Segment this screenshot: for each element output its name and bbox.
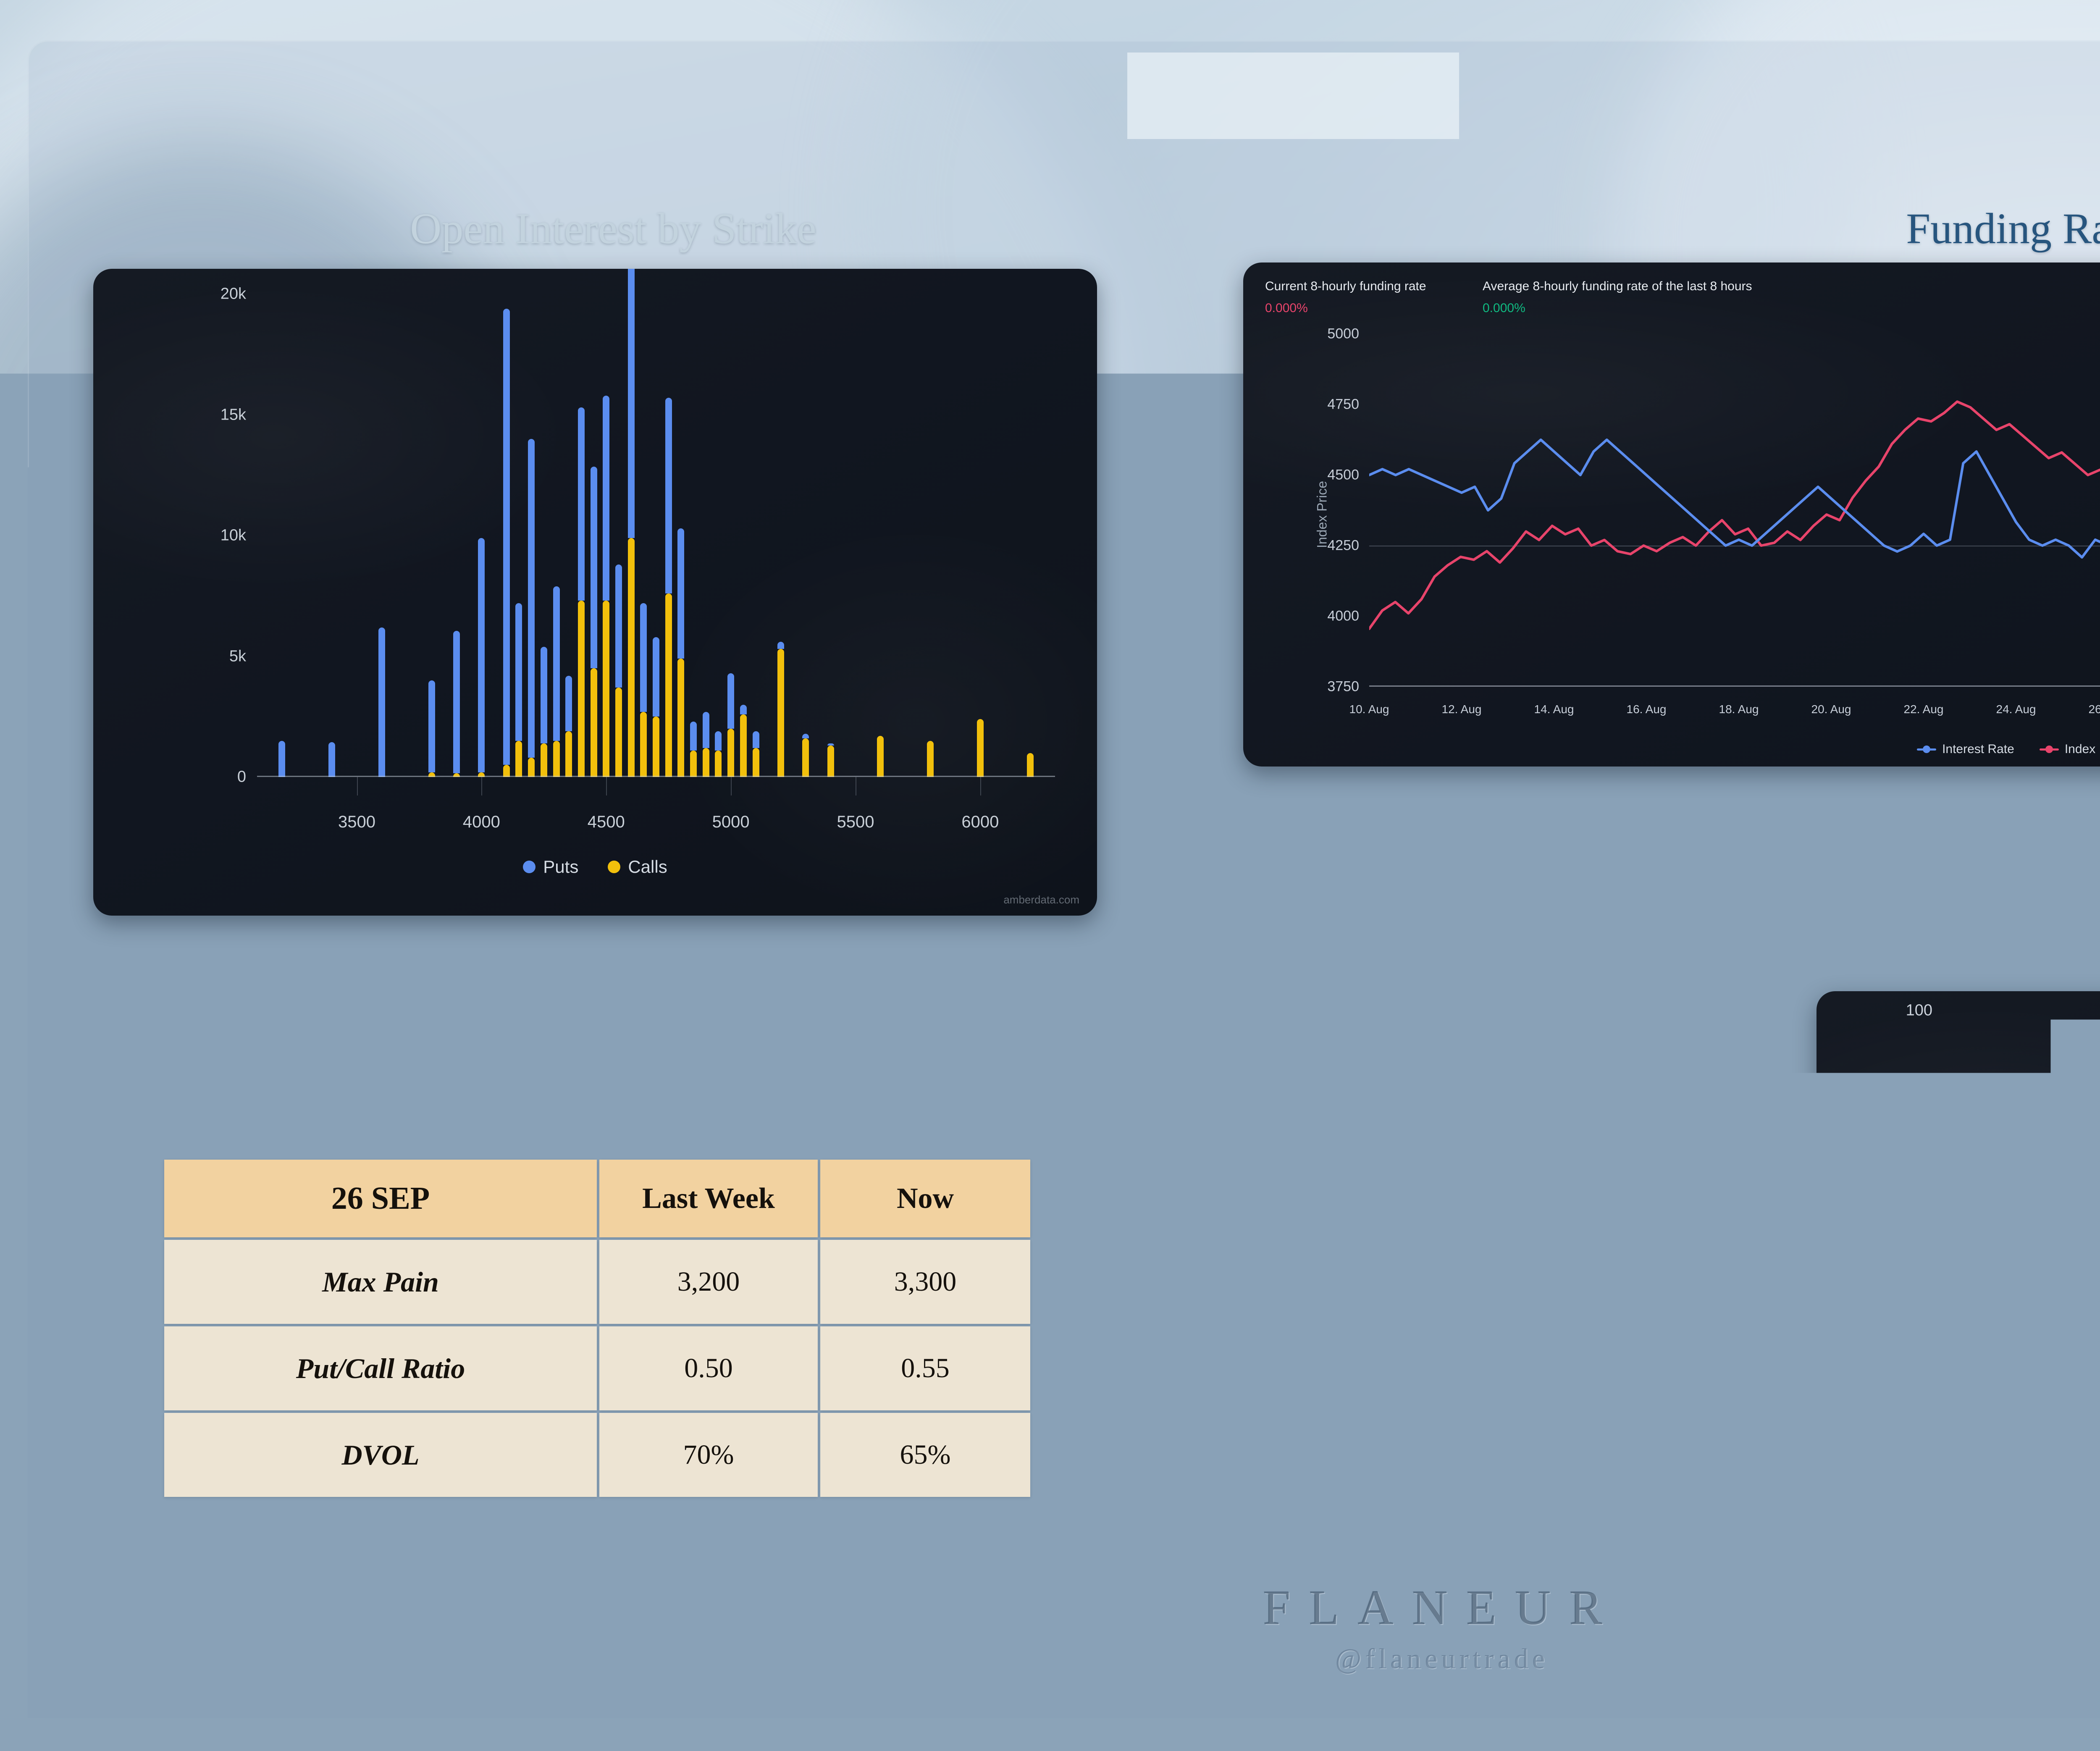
- table-header-row: 26 SEPLast WeekNow: [164, 1160, 1030, 1237]
- open-interest-tick-mark: [731, 777, 732, 795]
- calls-segment: [628, 538, 635, 777]
- legend-swatch-icon: [523, 861, 535, 873]
- open-interest-plot-area: 05k10k15k20k: [257, 294, 1055, 777]
- series-index-price: [1369, 402, 2100, 629]
- calls-segment: [503, 765, 510, 777]
- funding-rate-heading: Funding Rate: [1701, 204, 2100, 254]
- puts-segment: [653, 637, 659, 717]
- calls-segment: [690, 751, 697, 777]
- open-interest-tick-mark: [481, 777, 482, 795]
- puts-segment: [453, 631, 460, 773]
- open-interest-x-tick: 6000: [961, 813, 999, 832]
- legend-item[interactable]: Puts: [523, 857, 578, 877]
- open-interest-bar: [278, 741, 285, 777]
- funding-rate-chart-card: Current 8-hourly funding rate 0.000% Ave…: [1243, 263, 2100, 767]
- table-row: Max Pain3,2003,300: [164, 1240, 1030, 1324]
- legend-swatch-icon: [608, 861, 620, 873]
- puts-segment: [515, 603, 522, 741]
- atm-y-tick: 100: [1906, 1002, 1932, 1020]
- calls-segment: [565, 731, 572, 777]
- calls-segment: [615, 688, 622, 777]
- calls-segment: [727, 729, 734, 777]
- open-interest-tick-mark: [856, 777, 856, 795]
- table-header-cell: 26 SEP: [164, 1160, 597, 1237]
- table-cell-last-week: 0.50: [599, 1326, 818, 1410]
- table-row-label: Max Pain: [164, 1240, 597, 1324]
- open-interest-y-tick: 20k: [220, 285, 246, 303]
- calls-segment: [740, 714, 747, 777]
- calls-segment: [578, 601, 585, 777]
- atm-y-tick: 50: [1915, 1144, 1932, 1162]
- open-interest-y-tick: 0: [237, 768, 246, 786]
- series-parkinson-rv: [2000, 1045, 2100, 1124]
- atm-y-tick: -25: [1909, 1357, 1932, 1375]
- open-interest-bar: [591, 467, 597, 777]
- atm-heading-line1: At The Money (ATM) vs: [1928, 926, 2100, 973]
- open-interest-bar: [1027, 753, 1034, 777]
- open-interest-x-tick: 5000: [712, 813, 750, 832]
- open-interest-x-tick: 4000: [463, 813, 500, 832]
- open-interest-bar: [753, 731, 759, 777]
- open-interest-bar: [578, 407, 585, 777]
- calls-segment: [677, 659, 684, 777]
- atm-y-tick: 0: [1924, 1286, 1932, 1304]
- puts-segment: [690, 722, 697, 751]
- open-interest-bar: [777, 642, 784, 777]
- calls-segment: [541, 743, 547, 777]
- open-interest-bar: [515, 603, 522, 777]
- calls-segment: [553, 741, 560, 777]
- puts-segment: [553, 586, 560, 741]
- amberdata-watermark: amberdata.com: [1003, 893, 1079, 906]
- funding-rate-plot-area: 375040004250450047505000-0.024-0.01200.0…: [1369, 334, 2100, 687]
- open-interest-bar: [703, 712, 709, 777]
- legend-swatch-icon: [2040, 748, 2059, 751]
- open-interest-bar: [653, 637, 659, 777]
- open-interest-bar: [553, 586, 560, 777]
- open-interest-chart-card: 05k10k15k20k PutsCalls amberdata.com 350…: [93, 269, 1097, 916]
- brand-handle: @flaneurtrade: [0, 1642, 2100, 1675]
- table-row-label: DVOL: [164, 1413, 597, 1497]
- puts-segment: [777, 642, 784, 649]
- open-interest-tick-mark: [980, 777, 981, 795]
- puts-segment: [428, 680, 435, 772]
- open-interest-bar: [690, 722, 697, 777]
- table-cell-now: 0.55: [820, 1326, 1030, 1410]
- puts-segment: [578, 407, 585, 601]
- average-funding-rate-label: Average 8-hourly funding rate of the las…: [1483, 279, 1752, 294]
- calls-segment: [591, 668, 597, 777]
- calls-segment: [653, 717, 659, 777]
- open-interest-bar: [453, 631, 460, 777]
- summary-table: 26 SEPLast WeekNowMax Pain3,2003,300Put/…: [162, 1157, 1033, 1499]
- puts-segment: [615, 564, 622, 688]
- open-interest-bar: [640, 603, 647, 777]
- puts-segment: [703, 712, 709, 748]
- atm-legend: VRPATMParkinson RV: [1816, 1522, 2100, 1541]
- page-title: Sep Week 2 Data: [1128, 69, 1459, 121]
- calls-segment: [802, 738, 809, 777]
- table-row: Put/Call Ratio0.500.55: [164, 1326, 1030, 1410]
- open-interest-bar: [328, 742, 335, 777]
- puts-segment: [591, 467, 597, 668]
- legend-item[interactable]: Index Price: [2040, 742, 2100, 756]
- brand-footer: FLANEUR @flaneurtrade: [0, 1579, 2100, 1675]
- funding-y-tick: 4500: [1327, 467, 1359, 483]
- open-interest-bar: [802, 734, 809, 777]
- puts-segment: [665, 398, 672, 593]
- funding-x-tick: 22. Aug: [1904, 703, 1944, 716]
- open-interest-bar: [877, 736, 884, 777]
- open-interest-bar: [478, 538, 485, 777]
- open-interest-bar: [927, 741, 934, 777]
- average-funding-rate-value: 0.000%: [1483, 301, 1525, 315]
- open-interest-bar: [665, 398, 672, 777]
- open-interest-legend: PutsCalls: [93, 857, 1097, 877]
- puts-segment: [541, 647, 547, 743]
- calls-segment: [927, 741, 934, 777]
- funding-y-tick: 3750: [1327, 679, 1359, 695]
- calls-segment: [753, 748, 759, 777]
- legend-swatch-icon: [1917, 748, 1936, 751]
- legend-item[interactable]: Interest Rate: [1917, 742, 2014, 756]
- open-interest-bar: [378, 627, 385, 777]
- series-interest-rate: [1369, 440, 2100, 651]
- legend-label: Interest Rate: [1942, 742, 2014, 756]
- funding-rate-legend: Interest RateIndex Price: [1243, 742, 2100, 756]
- calls-segment: [977, 719, 984, 777]
- brand-name: FLANEUR: [0, 1579, 2100, 1636]
- funding-x-tick: 24. Aug: [1996, 703, 2036, 716]
- calls-segment: [515, 741, 522, 777]
- funding-rate-lines: [1369, 334, 2100, 687]
- legend-label: Index Price: [2065, 742, 2100, 756]
- atm-plot-area: -50-250255075100: [1942, 1011, 2100, 1436]
- open-interest-y-tick: 5k: [229, 647, 246, 665]
- open-interest-bar: [677, 528, 684, 777]
- puts-segment: [802, 734, 809, 739]
- calls-segment: [715, 751, 722, 777]
- atm-vs-rv-chart-card: -50-250255075100 VRPATMParkinson RV ambe…: [1816, 991, 2100, 1579]
- calls-segment: [603, 601, 609, 777]
- puts-segment: [378, 627, 385, 777]
- calls-segment: [665, 593, 672, 777]
- atm-y-tick: -50: [1909, 1428, 1932, 1446]
- calls-segment: [640, 712, 647, 777]
- open-interest-bar: [528, 439, 535, 777]
- legend-label: Calls: [628, 857, 667, 877]
- funding-y-tick: 4250: [1327, 538, 1359, 554]
- funding-y-axis-title: Index Price: [1315, 481, 1330, 548]
- page-title-pill: Sep Week 2 Data: [1140, 63, 1446, 127]
- puts-segment: [753, 731, 759, 748]
- atm-x-tick: 11 Aug: [2000, 1471, 2049, 1489]
- calls-segment: [827, 746, 834, 777]
- puts-segment: [603, 396, 609, 601]
- funding-x-tick: 16. Aug: [1627, 703, 1667, 716]
- table-header-cell: Last Week: [599, 1160, 818, 1237]
- puts-segment: [677, 528, 684, 659]
- funding-rate-x-axis: [1369, 685, 2100, 687]
- funding-x-tick: 26. Aug: [2089, 703, 2100, 716]
- calls-segment: [528, 758, 535, 777]
- series-vrp-area: [2000, 1255, 2100, 1382]
- table-cell-now: 65%: [820, 1413, 1030, 1497]
- open-interest-bar: [715, 731, 722, 777]
- open-interest-x-tick: 3500: [338, 813, 375, 832]
- atm-y-tick: 75: [1915, 1073, 1932, 1091]
- table-cell-last-week: 70%: [599, 1413, 818, 1497]
- legend-label: Puts: [543, 857, 578, 877]
- puts-segment: [478, 538, 485, 772]
- funding-y-tick: 5000: [1327, 326, 1359, 342]
- table-cell-now: 3,300: [820, 1240, 1030, 1324]
- puts-segment: [715, 731, 722, 751]
- open-interest-x-tick: 5500: [837, 813, 874, 832]
- open-interest-bar: [977, 719, 984, 777]
- table-cell-last-week: 3,200: [599, 1240, 818, 1324]
- open-interest-bar: [740, 705, 747, 777]
- funding-x-tick: 12. Aug: [1442, 703, 1482, 716]
- atm-series-graphics: [1942, 1011, 2100, 1436]
- puts-segment: [328, 742, 335, 777]
- puts-segment: [640, 603, 647, 712]
- funding-x-tick: 14. Aug: [1534, 703, 1574, 716]
- open-interest-bar: [727, 673, 734, 777]
- funding-x-tick: 20. Aug: [1811, 703, 1851, 716]
- calls-segment: [777, 649, 784, 777]
- puts-segment: [740, 705, 747, 714]
- calls-segment: [1027, 753, 1034, 777]
- funding-y-tick: 4750: [1327, 396, 1359, 413]
- puts-segment: [565, 676, 572, 731]
- open-interest-bar: [565, 676, 572, 777]
- open-interest-y-tick: 15k: [220, 406, 246, 424]
- funding-x-tick: 10. Aug: [1349, 703, 1389, 716]
- open-interest-bar: [541, 647, 547, 777]
- current-funding-rate-label: Current 8-hourly funding rate: [1265, 279, 1426, 294]
- series-atm: [2000, 1084, 2100, 1113]
- open-interest-bar: [503, 309, 510, 777]
- calls-segment: [877, 736, 884, 777]
- table-row: DVOL70%65%: [164, 1413, 1030, 1497]
- funding-x-tick: 18. Aug: [1719, 703, 1759, 716]
- open-interest-x-axis: [257, 776, 1055, 777]
- puts-segment: [503, 309, 510, 765]
- open-interest-x-tick: 4500: [588, 813, 625, 832]
- open-interest-bar: [428, 680, 435, 777]
- atm-y-tick: 25: [1915, 1215, 1932, 1233]
- puts-segment: [727, 673, 734, 729]
- puts-segment: [528, 439, 535, 758]
- open-interest-bar: [827, 743, 834, 777]
- legend-item[interactable]: Calls: [608, 857, 667, 877]
- calls-segment: [703, 748, 709, 777]
- current-funding-rate-value: 0.000%: [1265, 301, 1308, 315]
- open-interest-bar: [603, 396, 609, 777]
- open-interest-bar: [615, 564, 622, 777]
- open-interest-tick-mark: [357, 777, 358, 795]
- open-interest-tick-mark: [606, 777, 607, 795]
- open-interest-heading: Open Interest by Strike: [269, 204, 958, 254]
- open-interest-y-tick: 10k: [220, 527, 246, 545]
- puts-segment: [278, 741, 285, 777]
- atm-tick-mark: [2025, 1436, 2026, 1453]
- open-interest-bar: [628, 269, 635, 777]
- table-header-cell: Now: [820, 1160, 1030, 1237]
- table-row-label: Put/Call Ratio: [164, 1326, 597, 1410]
- funding-y-tick: 4000: [1327, 608, 1359, 625]
- puts-segment: [628, 269, 635, 538]
- atm-x-axis: [1942, 1435, 2100, 1436]
